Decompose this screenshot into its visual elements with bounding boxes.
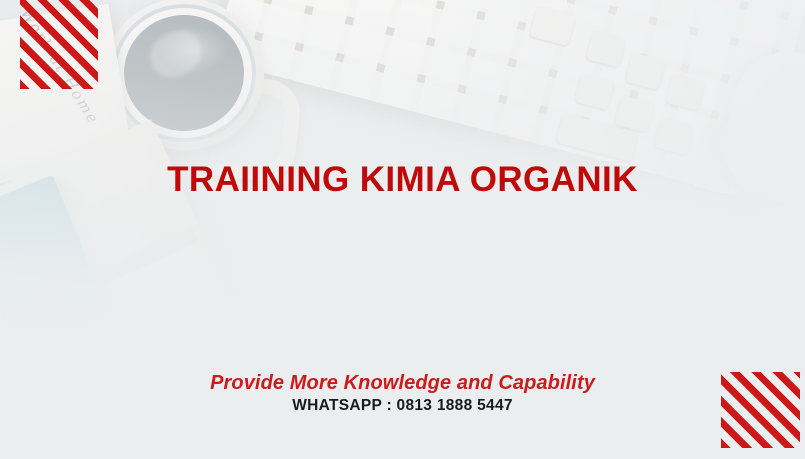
contact-whatsapp: WHATSAPP : 0813 1888 5447 [0, 397, 805, 415]
banner-title: TRAIINING KIMIA ORGANIK [0, 160, 805, 200]
diagonal-stripes-icon-top-left [20, 0, 98, 89]
promo-banner: Work at Home TRAIINING KIMIA ORGANIK Pro… [0, 0, 805, 459]
banner-tagline: Provide More Knowledge and Capability [0, 372, 805, 395]
